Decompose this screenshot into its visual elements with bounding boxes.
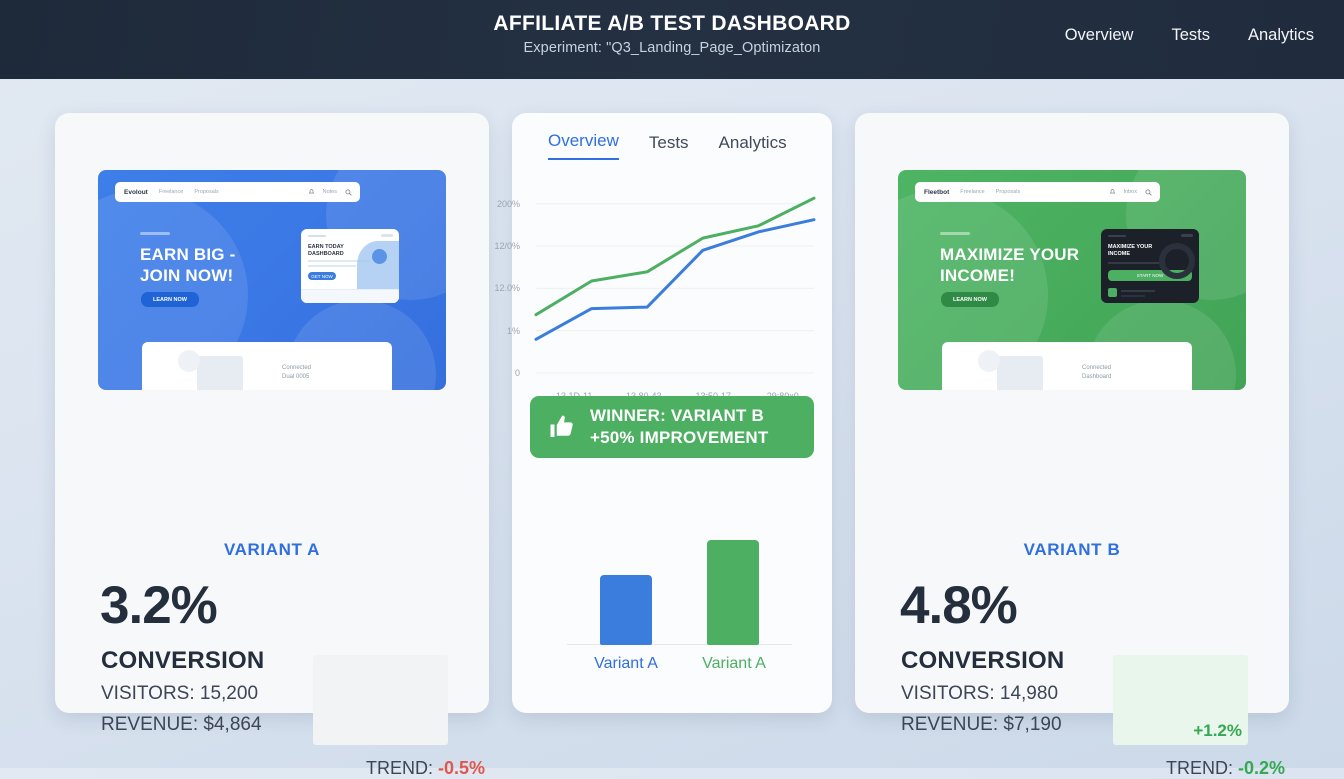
bar-label-a: Variant A [571, 655, 681, 673]
mockup-panel-button[interactable]: GET NOW [308, 272, 336, 280]
mockup-logo: Fleetbot [924, 189, 949, 196]
mockup-eyebrow [940, 232, 970, 235]
variant-b-revenue: REVENUE: $7,190 [901, 714, 1062, 736]
variant-b-trend-value: -0.2% [1238, 758, 1285, 778]
variant-b-conversion-value: 4.8% [900, 575, 1017, 636]
variant-a-conversion-value: 3.2% [100, 575, 217, 636]
search-icon [345, 189, 352, 196]
mockup-side-panel: MAXIMIZE YOUR INCOME START NOW [1101, 229, 1199, 303]
nav-item-overview[interactable]: Overview [1065, 26, 1134, 45]
variant-a-trend: TREND: -0.5% [285, 758, 485, 779]
mockup-side-panel: EARN TODAY DASHBOARD GET NOW [301, 229, 399, 303]
tab-overview[interactable]: Overview [548, 131, 619, 160]
winner-line-2: +50% IMPROVEMENT [590, 427, 768, 449]
y-axis-tick: 12/0% [494, 241, 520, 251]
insights-panel[interactable]: Overview Tests Analytics 01%12.0%12/0%20… [512, 113, 832, 713]
y-axis-tick: 200% [497, 199, 520, 209]
bar-label-b: Variant A [679, 655, 789, 673]
variant-a-mockup: Evolout Freelance Proposals Notes EARN B… [98, 170, 446, 390]
winner-line-1: WINNER: VARIANT B [590, 405, 768, 427]
variant-b-visitors: VISITORS: 14,980 [901, 683, 1058, 705]
mockup-headline: EARN BIG - JOIN NOW! [140, 245, 236, 286]
variant-b-mockup: Fleetbot Freelance Proposals Inbox MAXIM… [898, 170, 1246, 390]
tab-analytics[interactable]: Analytics [719, 133, 787, 160]
mockup-nav-2: Proposals [996, 189, 1020, 195]
mockup-topbar-actions: Inbox [1109, 189, 1152, 196]
variant-a-title: VARIANT A [55, 540, 489, 560]
y-axis-tick: 1% [507, 326, 520, 336]
mockup-nav-1: Freelance [960, 189, 984, 195]
variant-a-revenue: REVENUE: $4,864 [101, 714, 262, 736]
y-axis-tick: 12.0% [494, 283, 520, 293]
variant-a-conversion-label: CONVERSION [101, 647, 264, 675]
mockup-bottom-text: Connected Dual 0005 [282, 364, 311, 382]
variant-a-visitors: VISITORS: 15,200 [101, 683, 258, 705]
mockup-topbar: Evolout Freelance Proposals Notes [115, 182, 360, 202]
mockup-cta-button[interactable]: LEARN NOW [941, 292, 999, 307]
mockup-cta-button[interactable]: LEARN NOW [141, 292, 199, 307]
line-chart-svg [526, 183, 818, 383]
bar-variant-b [707, 540, 759, 645]
variant-b-card[interactable]: Fleetbot Freelance Proposals Inbox MAXIM… [855, 113, 1289, 713]
mockup-logo: Evolout [124, 189, 148, 196]
mockup-nav-2: Proposals [194, 189, 218, 195]
app-header: AFFILIATE A/B TEST DASHBOARD Experiment:… [0, 0, 1344, 79]
winner-banner: WINNER: VARIANT B +50% IMPROVEMENT [530, 396, 814, 458]
mockup-eyebrow [140, 232, 170, 235]
variant-b-trend-label: TREND: [1166, 758, 1233, 778]
nav-item-analytics[interactable]: Analytics [1248, 26, 1314, 45]
bell-icon [1109, 189, 1116, 196]
mockup-topbar: Fleetbot Freelance Proposals Inbox [915, 182, 1160, 202]
mockup-headline: MAXIMIZE YOUR INCOME! [940, 245, 1079, 286]
mockup-panel-title: MAXIMIZE YOUR INCOME [1108, 244, 1152, 259]
winner-text: WINNER: VARIANT B +50% IMPROVEMENT [590, 405, 768, 449]
mockup-bell-label: Inbox [1124, 189, 1137, 195]
trend-line-chart: 01%12.0%12/0%200% 13.1D-1113.80-4313:50-… [526, 183, 818, 383]
thumbs-up-icon [548, 412, 578, 442]
variant-a-sparkline [313, 655, 448, 745]
mockup-bell-label: Notes [323, 189, 337, 195]
mockup-nav-1: Freelance [159, 189, 183, 195]
tab-tests[interactable]: Tests [649, 133, 689, 160]
conversion-bar-chart: Variant A Variant A [552, 508, 792, 683]
variant-b-trend: TREND: -0.2% [1085, 758, 1285, 779]
mockup-bottom-card: Connected Dual 0005 [142, 342, 392, 390]
mockup-bottom-text: Connected Dashboard [1082, 364, 1111, 382]
bell-icon [308, 189, 315, 196]
header-nav: Overview Tests Analytics [1065, 26, 1314, 45]
variant-a-trend-value: -0.5% [438, 758, 485, 778]
variant-b-title: VARIANT B [855, 540, 1289, 560]
variant-b-sparkline-value: +1.2% [1193, 721, 1242, 741]
panel-tabs: Overview Tests Analytics [548, 131, 787, 160]
variant-a-card[interactable]: Evolout Freelance Proposals Notes EARN B… [55, 113, 489, 713]
variant-b-sparkline: +1.2% [1113, 655, 1248, 745]
variant-a-trend-label: TREND: [366, 758, 433, 778]
y-axis-tick: 0 [515, 368, 520, 378]
mockup-panel-title: EARN TODAY DASHBOARD [308, 244, 344, 259]
variant-b-conversion-label: CONVERSION [901, 647, 1064, 675]
mockup-topbar-actions: Notes [308, 189, 352, 196]
mockup-bottom-card: Connected Dashboard [942, 342, 1192, 390]
nav-item-tests[interactable]: Tests [1171, 26, 1210, 45]
search-icon [1145, 189, 1152, 196]
bar-variant-a [600, 575, 652, 645]
